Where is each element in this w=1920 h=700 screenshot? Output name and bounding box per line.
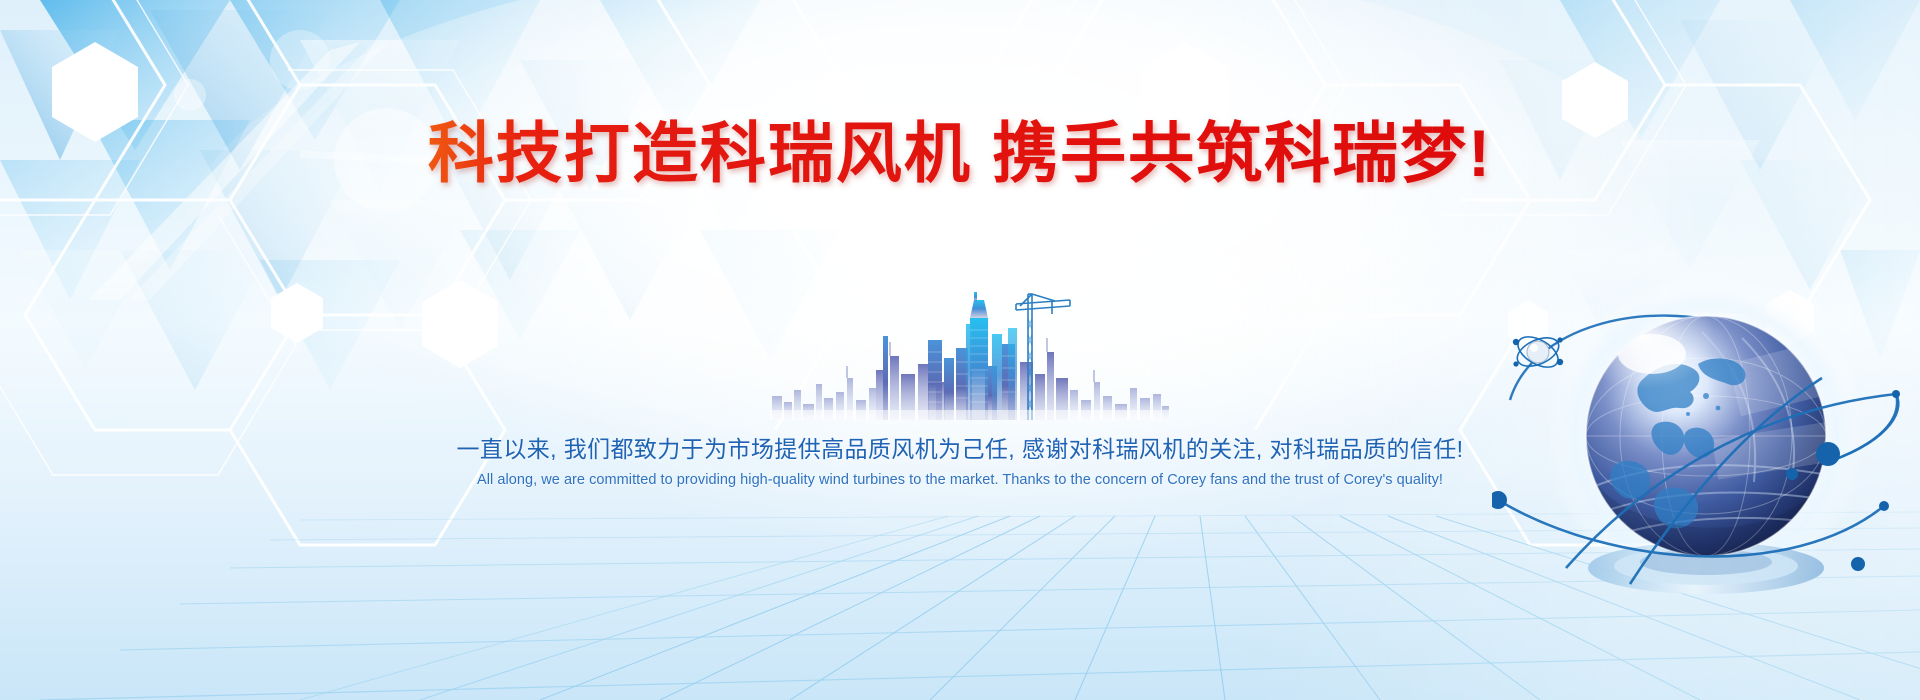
cityscape-illustration [770, 278, 1170, 420]
banner-subtitle-cn: 一直以来, 我们都致力于为市场提供高品质风机为己任, 感谢对科瑞风机的关注, 对… [0, 430, 1920, 464]
satellite-atom-icon [1513, 331, 1563, 374]
banner-subtitle-en: All along, we are committed to providing… [0, 472, 1920, 488]
hero-banner: 科技打造科瑞风机 携手共筑科瑞梦! 一直以来, 我们都致力于为市场提供高品质风机… [0, 0, 1920, 700]
